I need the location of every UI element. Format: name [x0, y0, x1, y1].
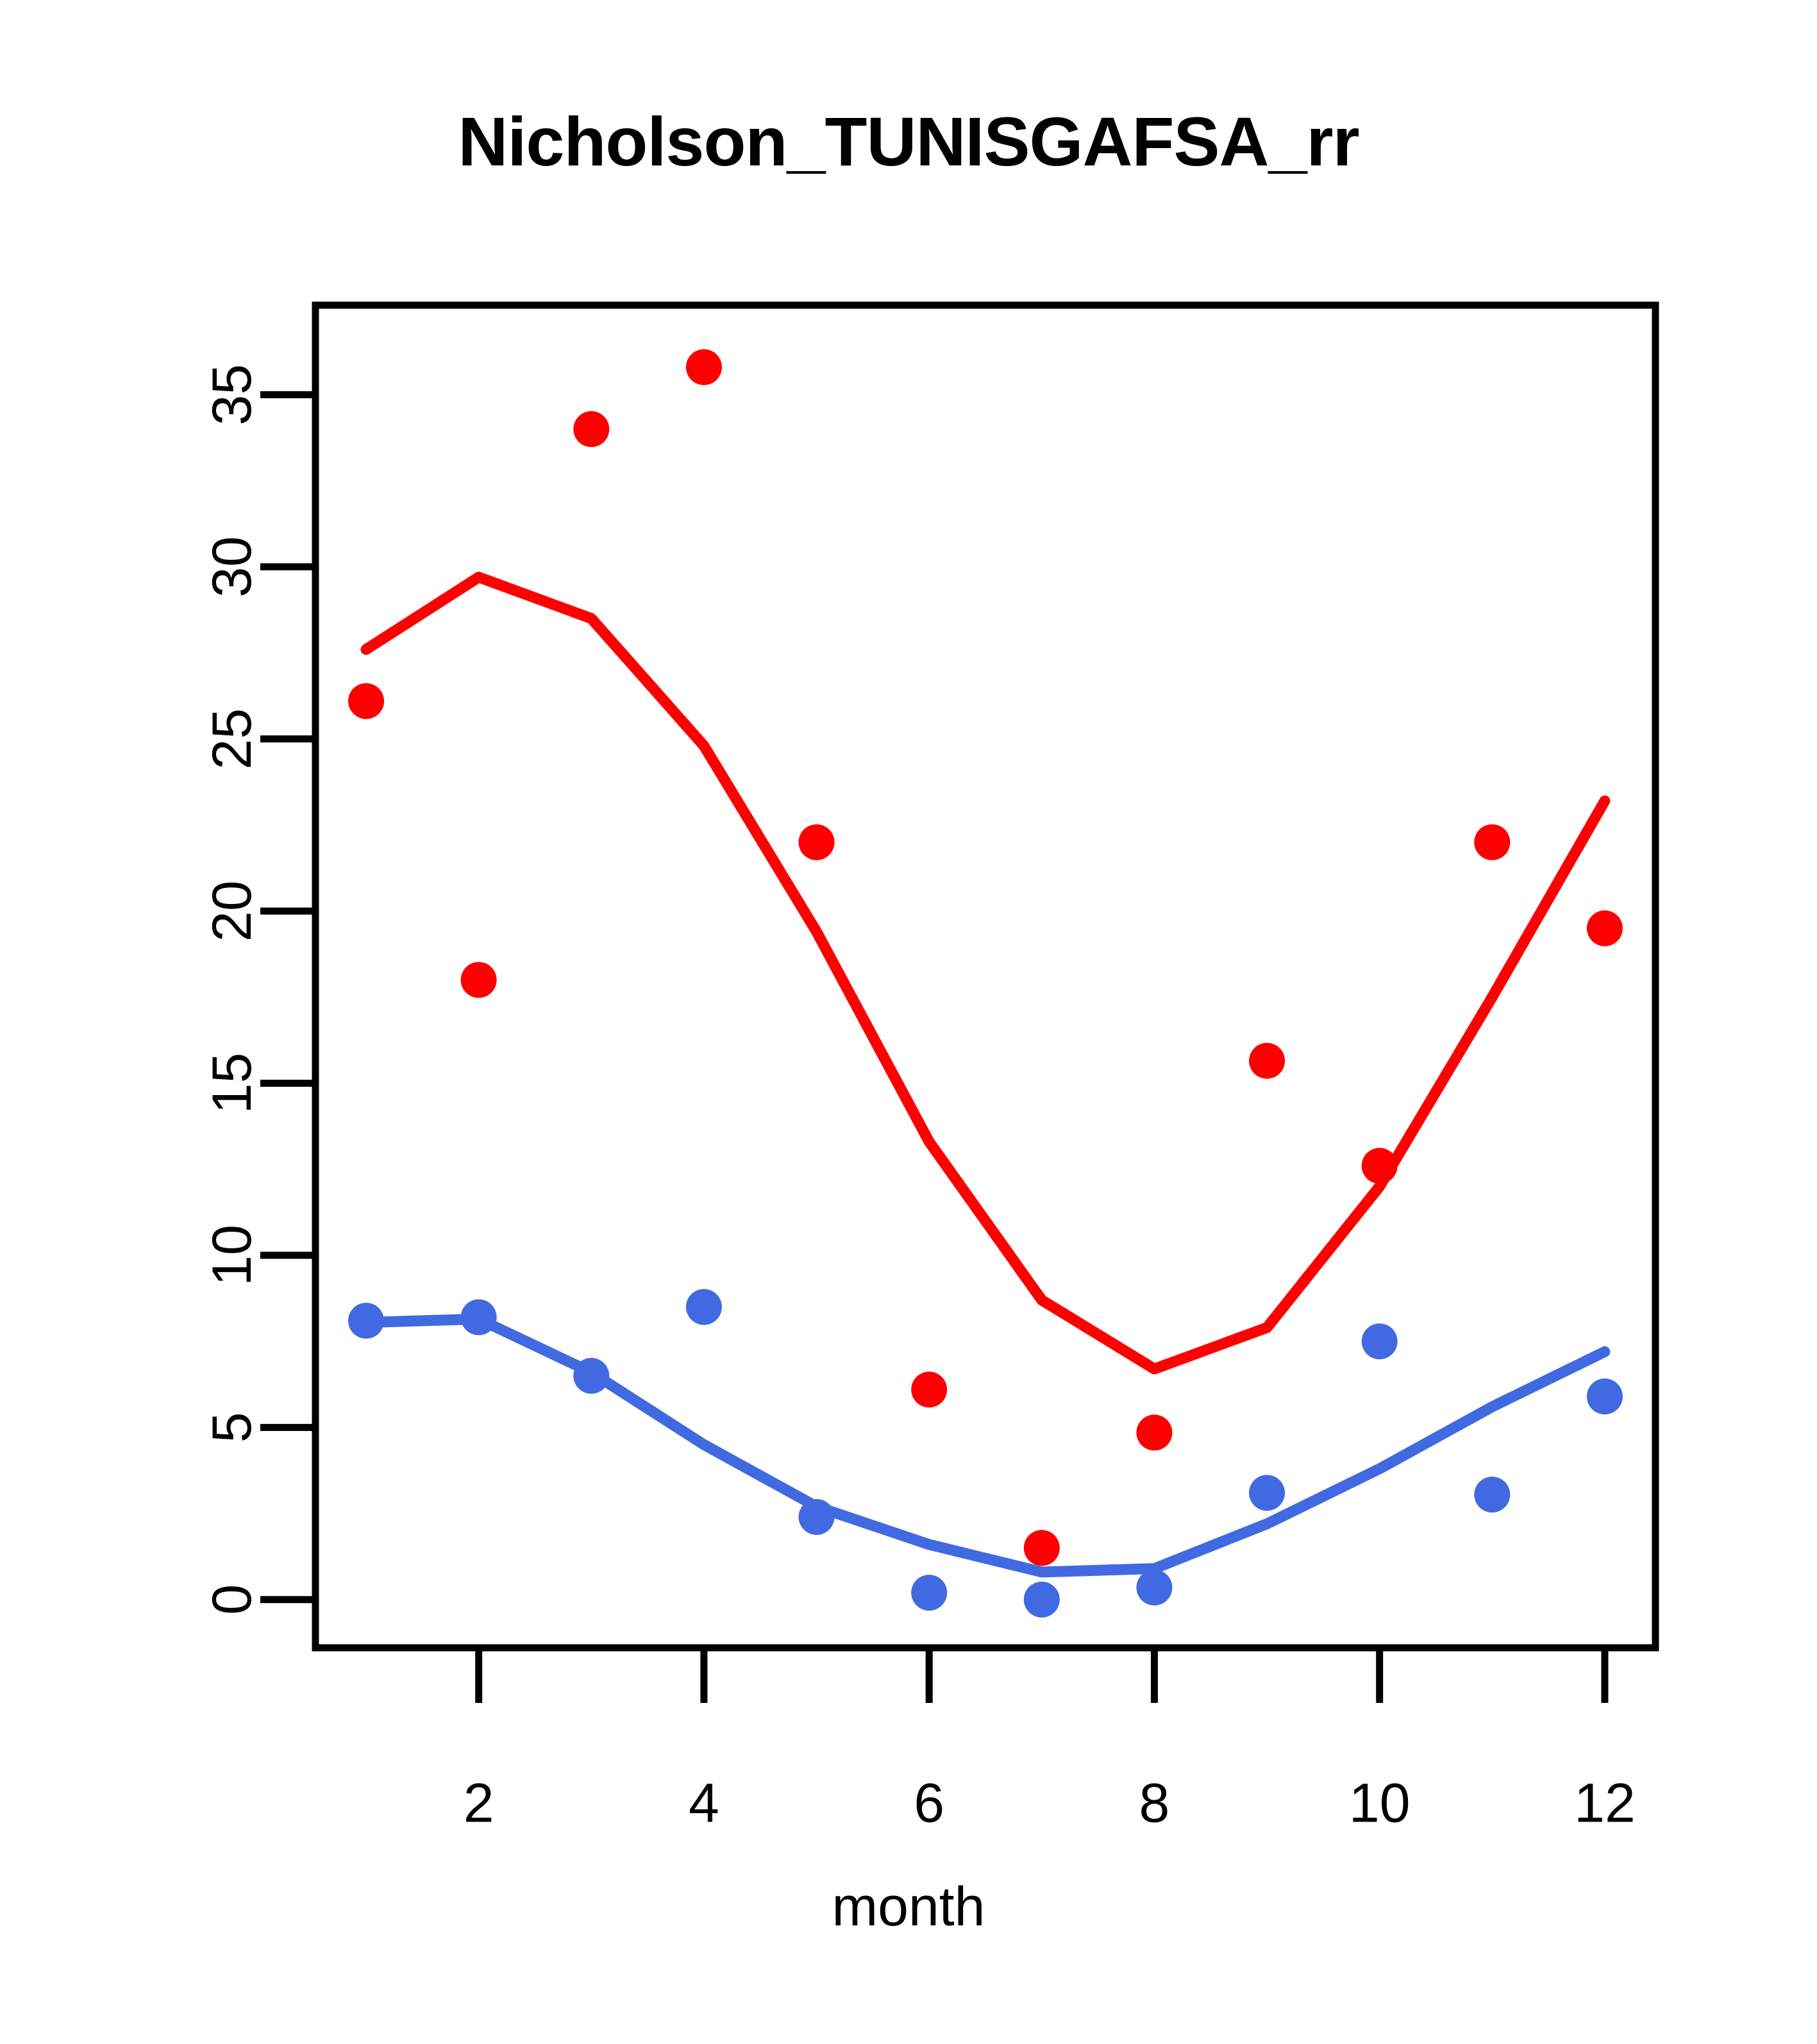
plot-box [315, 305, 1655, 1648]
data-point [911, 1575, 947, 1611]
x-tick-label: 4 [689, 1773, 719, 1834]
data-point [1136, 1570, 1172, 1605]
y-axis-ticks [260, 395, 315, 1600]
data-point [1249, 1475, 1285, 1511]
series-line-red-line [366, 577, 1605, 1369]
plot-canvas: 05101520253035 24681012 [0, 0, 1817, 2044]
data-lines [366, 577, 1605, 1572]
y-tick-label: 15 [201, 1053, 263, 1114]
x-axis-ticks [479, 1648, 1605, 1703]
y-tick-label: 25 [201, 708, 263, 770]
data-point [1474, 1477, 1510, 1512]
data-point [348, 683, 384, 719]
x-tick-label: 12 [1574, 1773, 1636, 1834]
y-axis-tick-labels: 05101520253035 [201, 364, 263, 1615]
data-point [461, 962, 497, 998]
y-tick-label: 5 [201, 1412, 263, 1443]
data-point [573, 1358, 609, 1394]
x-tick-label: 2 [464, 1773, 494, 1834]
x-tick-label: 10 [1349, 1773, 1411, 1834]
data-point [461, 1300, 497, 1336]
data-point [1362, 1148, 1398, 1184]
plot-border [315, 305, 1655, 1648]
x-tick-label: 8 [1139, 1773, 1170, 1834]
y-tick-label: 20 [201, 880, 263, 942]
data-point [911, 1371, 947, 1407]
y-tick-label: 30 [201, 536, 263, 598]
data-point [1587, 1378, 1623, 1414]
data-point [1136, 1414, 1172, 1450]
data-point [1362, 1323, 1398, 1359]
y-tick-label: 35 [201, 364, 263, 426]
data-point [1249, 1043, 1285, 1079]
x-axis-label: month [0, 1875, 1817, 1939]
data-point [348, 1303, 384, 1339]
chart-page: Nicholson_TUNISGAFSA_rr 05101520253035 2… [0, 0, 1817, 2044]
data-point [1024, 1530, 1060, 1566]
data-point [686, 349, 722, 385]
data-point [1474, 825, 1510, 860]
series-line-blue-line [366, 1319, 1605, 1572]
x-axis-tick-labels: 24681012 [464, 1773, 1636, 1834]
x-tick-label: 6 [914, 1773, 944, 1834]
data-point [799, 1499, 835, 1535]
data-point [573, 411, 609, 447]
data-point [799, 825, 835, 860]
data-points [348, 349, 1623, 1618]
data-point [1587, 910, 1623, 946]
y-tick-label: 0 [201, 1584, 263, 1615]
data-point [686, 1289, 722, 1325]
y-tick-label: 10 [201, 1225, 263, 1286]
data-point [1024, 1582, 1060, 1618]
